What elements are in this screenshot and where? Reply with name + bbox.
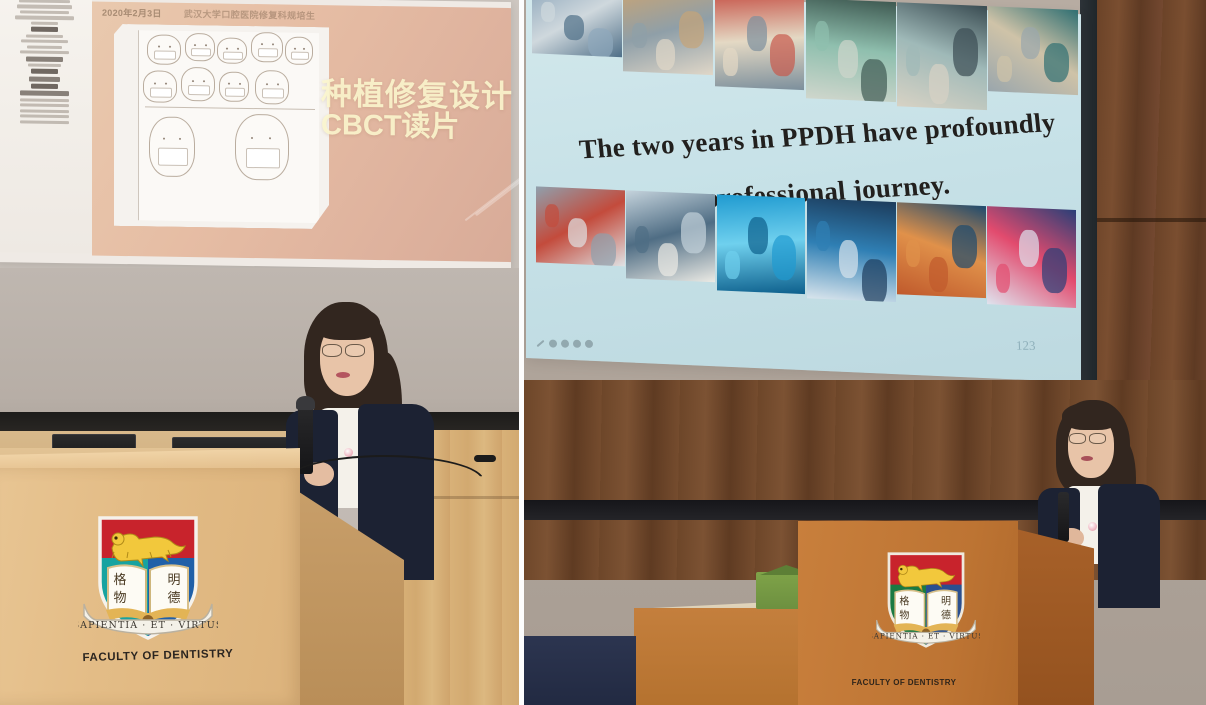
document-line	[19, 0, 71, 3]
cartoon-eye	[228, 83, 230, 85]
slide-photo	[897, 202, 986, 298]
photo-detail	[1044, 43, 1069, 83]
document-line	[31, 69, 58, 74]
cartoon-eye	[261, 43, 263, 45]
cartoon-face-mask	[291, 52, 309, 61]
cartoon-figure	[251, 32, 283, 63]
slide-photo	[807, 198, 896, 302]
cartoon-figure	[217, 37, 247, 63]
photo-detail	[681, 212, 706, 254]
document-line	[20, 103, 70, 107]
document-line	[31, 27, 58, 32]
podium-label-right: FACULTY OF DENTISTRY	[824, 678, 984, 687]
cartoon-face-mask	[150, 87, 172, 97]
photo-detail	[770, 33, 795, 76]
photo-detail	[591, 233, 616, 266]
photo-detail	[635, 226, 649, 253]
document-line	[20, 114, 70, 118]
pen-icon[interactable]	[537, 340, 545, 347]
document-line	[15, 16, 74, 20]
pointer-icon[interactable]	[573, 340, 581, 348]
cartoon-eye	[192, 80, 194, 82]
cartoon-eye	[303, 47, 305, 49]
floor-panel-right	[524, 636, 636, 705]
slide-title-line2: CBCT读片	[321, 110, 513, 144]
cartoon-eye	[237, 48, 239, 50]
glasses-right-lens	[345, 344, 365, 357]
cartoon-face-mask	[154, 50, 176, 59]
magnifier-icon[interactable]	[549, 340, 557, 348]
cartoon-eye	[169, 46, 171, 48]
cartoon-eye	[226, 47, 228, 49]
menu-icon[interactable]	[585, 340, 593, 348]
cartoon-figure	[255, 70, 289, 105]
cartoon-figure	[143, 70, 177, 103]
hku-crest-left: 格 物 明 德 SAPIENTIA · ET · VIRTUS	[78, 512, 218, 644]
photo-detail	[632, 23, 646, 48]
cartoon-eye	[158, 46, 160, 48]
mouth	[336, 372, 350, 378]
slide-icon[interactable]	[561, 340, 569, 348]
cartoon-figure	[219, 72, 249, 102]
left-photo-panel: 2020年2月3日 武汉大学口腔医院修复科规培生 种植修复设计 CBCT读片	[0, 0, 519, 705]
photo-detail	[906, 239, 920, 267]
glasses-left-lens	[1069, 433, 1086, 444]
microphone-head	[296, 396, 315, 410]
cartoon-figure	[185, 33, 215, 61]
cartoon-figure	[235, 114, 289, 181]
cartoon-face-mask	[223, 52, 242, 60]
photo-detail	[953, 28, 978, 77]
photo-detail	[1021, 26, 1041, 59]
bottom-photo-strip	[536, 186, 1076, 310]
cartoon-face-mask	[246, 148, 281, 168]
flower-lapel-pin	[1088, 522, 1097, 531]
document-line	[31, 84, 58, 89]
hku-crest-right: 格 物 明 德 SAPIENTIA · ET · VIRTUS	[872, 548, 980, 652]
photo-detail	[815, 21, 829, 52]
svg-text:格: 格	[899, 595, 909, 608]
svg-text:德: 德	[167, 591, 180, 606]
photo-detail	[545, 204, 559, 227]
photo-detail	[929, 257, 949, 293]
photo-detail	[748, 217, 768, 254]
svg-text:格: 格	[113, 572, 126, 588]
slide-date: 2020年2月3日	[102, 5, 162, 19]
photo-detail	[541, 1, 555, 22]
cartoon-figure	[285, 37, 313, 65]
cartoon-eye	[203, 80, 205, 82]
slide-left-body: 2020年2月3日 武汉大学口腔医院修复科规培生 种植修复设计 CBCT读片	[92, 2, 511, 263]
cartoon-face-mask	[258, 48, 278, 57]
photo-detail	[588, 27, 613, 56]
glasses-left-lens	[322, 344, 342, 357]
svg-text:德: 德	[941, 609, 951, 622]
slide-photo	[987, 206, 1076, 308]
cartoon-face-mask	[191, 48, 210, 57]
slide-photo	[626, 190, 715, 282]
document-line	[31, 21, 58, 25]
cartoon-face-mask	[225, 88, 244, 97]
cartoon-eye	[154, 82, 156, 84]
document-text-lines	[0, 0, 89, 251]
document-line	[26, 56, 63, 62]
photo-detail	[658, 243, 678, 277]
cartoon-eye	[165, 83, 167, 85]
photo-detail	[747, 16, 767, 52]
presenter-toolbar[interactable]	[536, 339, 593, 348]
slide-organization: 武汉大学口腔医院修复科规培生	[184, 6, 316, 21]
photo-detail	[723, 48, 737, 76]
cartoon-figure	[147, 34, 181, 65]
slide-left-header: 2020年2月3日 武汉大学口腔医院修复科规培生	[102, 5, 505, 25]
slide-title: 种植修复设计 CBCT读片	[321, 77, 513, 144]
cartoon-eye	[266, 83, 268, 85]
hair-fringe	[1062, 402, 1120, 430]
document-line	[20, 10, 68, 14]
panel-divider	[519, 0, 524, 705]
document-line	[20, 120, 70, 124]
cartoon-face-mask	[158, 148, 187, 166]
photo-detail	[862, 259, 887, 302]
slide-photo	[717, 194, 806, 294]
cartoon-face-mask	[188, 85, 210, 96]
photo-detail	[679, 11, 704, 49]
cartoon-eye	[194, 44, 196, 46]
photo-detail	[929, 64, 949, 104]
slide-photo	[623, 0, 713, 75]
cartoon-figure	[181, 67, 215, 102]
hair-fringe	[314, 306, 380, 340]
svg-text:物: 物	[899, 609, 909, 622]
document-line	[21, 40, 67, 44]
slide-photo	[715, 0, 805, 90]
photo-detail	[839, 240, 859, 279]
photo-detail	[906, 44, 920, 76]
document-line	[20, 51, 70, 55]
cartoon-dental-clinic-sketch	[114, 24, 329, 229]
cartoon-eye	[179, 138, 181, 140]
document-line	[26, 34, 63, 38]
projected-slide-left: 2020年2月3日 武汉大学口腔医院修复科规培生 种植修复设计 CBCT读片	[0, 0, 511, 270]
cartoon-eye	[251, 137, 253, 139]
svg-text:SAPIENTIA · ET · VIRTUS: SAPIENTIA · ET · VIRTUS	[78, 620, 218, 631]
glasses-right-lens	[1089, 433, 1106, 444]
slide-right-line1: The two years in PPDH have profoundly	[578, 107, 1057, 166]
photo-detail	[996, 263, 1010, 293]
document-line	[20, 98, 70, 102]
slide-photo	[806, 0, 896, 102]
document-line	[17, 5, 72, 9]
document-line	[27, 45, 63, 49]
podium-right-side	[1008, 527, 1094, 705]
light-streak-2	[465, 173, 519, 222]
mouth	[1081, 456, 1093, 461]
cartoon-eye	[163, 138, 165, 140]
right-photo-panel: The two years in PPDH have profoundly sh…	[524, 0, 1206, 705]
chinese-cv-document	[0, 0, 92, 254]
cartoon-counter-line	[145, 106, 315, 110]
photo-detail	[861, 59, 886, 102]
photo-detail	[568, 218, 588, 248]
photo-detail	[564, 14, 584, 40]
slide-page-number: 123	[1015, 338, 1035, 354]
slide-photo	[988, 6, 1078, 95]
photo-detail	[816, 221, 830, 252]
cartoon-eye	[272, 44, 274, 46]
handheld-microphone[interactable]	[1058, 492, 1069, 542]
top-photo-strip	[532, 0, 1078, 114]
cartoon-figure	[149, 116, 195, 177]
svg-text:SAPIENTIA · ET · VIRTUS: SAPIENTIA · ET · VIRTUS	[872, 632, 980, 641]
document-line	[20, 109, 70, 113]
document-line	[29, 76, 59, 81]
cartoon-eye	[277, 83, 279, 85]
svg-text:物: 物	[113, 591, 126, 606]
slide-photo	[536, 186, 625, 266]
photo-detail	[952, 225, 977, 268]
photo-detail	[772, 235, 797, 280]
photo-detail	[1019, 229, 1039, 267]
cartoon-eye	[269, 138, 271, 140]
svg-text:明: 明	[941, 596, 951, 608]
slide-photo	[897, 2, 987, 110]
cartoon-eye	[294, 47, 296, 49]
photo-detail	[997, 56, 1011, 82]
photo-detail	[725, 250, 739, 279]
slide-title-line1: 种植修复设计	[321, 77, 513, 113]
screenshot-canvas: 2020年2月3日 武汉大学口腔医院修复科规培生 种植修复设计 CBCT读片	[0, 0, 1206, 705]
projected-slide-right: The two years in PPDH have profoundly sh…	[526, 0, 1081, 382]
cartoon-face-mask	[262, 88, 284, 99]
cartoon-eye	[239, 83, 241, 85]
gooseneck-mic-capsule	[474, 455, 496, 462]
cartoon-eye	[205, 44, 207, 46]
wood-wall-right-upper	[1097, 0, 1206, 400]
svg-text:明: 明	[167, 573, 180, 588]
photo-detail	[838, 40, 858, 79]
blazer-right-side	[1098, 484, 1160, 608]
photo-detail	[1042, 248, 1067, 294]
document-line	[28, 63, 62, 67]
document-line	[20, 91, 70, 97]
slide-photo	[532, 0, 622, 57]
photo-detail	[656, 39, 676, 71]
